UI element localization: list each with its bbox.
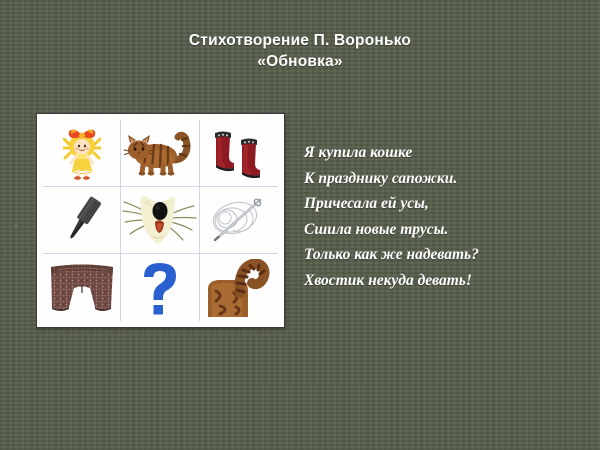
poem-line-2: К празднику сапожки. <box>304 166 594 192</box>
grid-cell-girl[interactable] <box>43 120 121 187</box>
question-mark-icon <box>138 260 182 316</box>
boots-icon <box>211 128 267 178</box>
grid-cell-cat[interactable] <box>121 120 199 187</box>
picture-grid <box>43 120 278 321</box>
picture-grid-card <box>36 113 285 328</box>
poem-line-5: Только как же надевать? <box>304 242 594 268</box>
grid-cell-shorts[interactable] <box>43 254 121 321</box>
girl-icon <box>63 126 101 180</box>
grid-cell-question-mark[interactable] <box>121 254 199 321</box>
grid-cell-boots[interactable] <box>200 120 278 187</box>
shorts-icon <box>47 261 117 315</box>
cat-icon <box>123 130 197 176</box>
cat-tail-icon <box>206 259 272 317</box>
comb-icon <box>52 191 112 249</box>
grid-cell-cat-tail[interactable] <box>200 254 278 321</box>
grid-cell-needle-thread[interactable] <box>200 187 278 254</box>
grid-cell-cat-face[interactable] <box>121 187 199 254</box>
page-title-line2: «Обновка» <box>0 51 600 72</box>
cat-face-icon <box>122 189 198 251</box>
page-title: Стихотворение П. Воронько «Обновка» <box>0 30 600 72</box>
poem-line-1: Я купила кошке <box>304 140 594 166</box>
poem-line-6: Хвостик некуда девать! <box>304 268 594 294</box>
needle-thread-icon <box>205 192 273 248</box>
page-title-line1: Стихотворение П. Воронько <box>0 30 600 51</box>
slide-canvas: Стихотворение П. Воронько «Обновка» <box>0 0 600 450</box>
poem-line-4: Сшила новые трусы. <box>304 217 594 243</box>
poem-line-3: Причесала ей усы, <box>304 191 594 217</box>
grid-cell-comb[interactable] <box>43 187 121 254</box>
poem-text: Я купила кошке К празднику сапожки. Прич… <box>304 140 594 293</box>
